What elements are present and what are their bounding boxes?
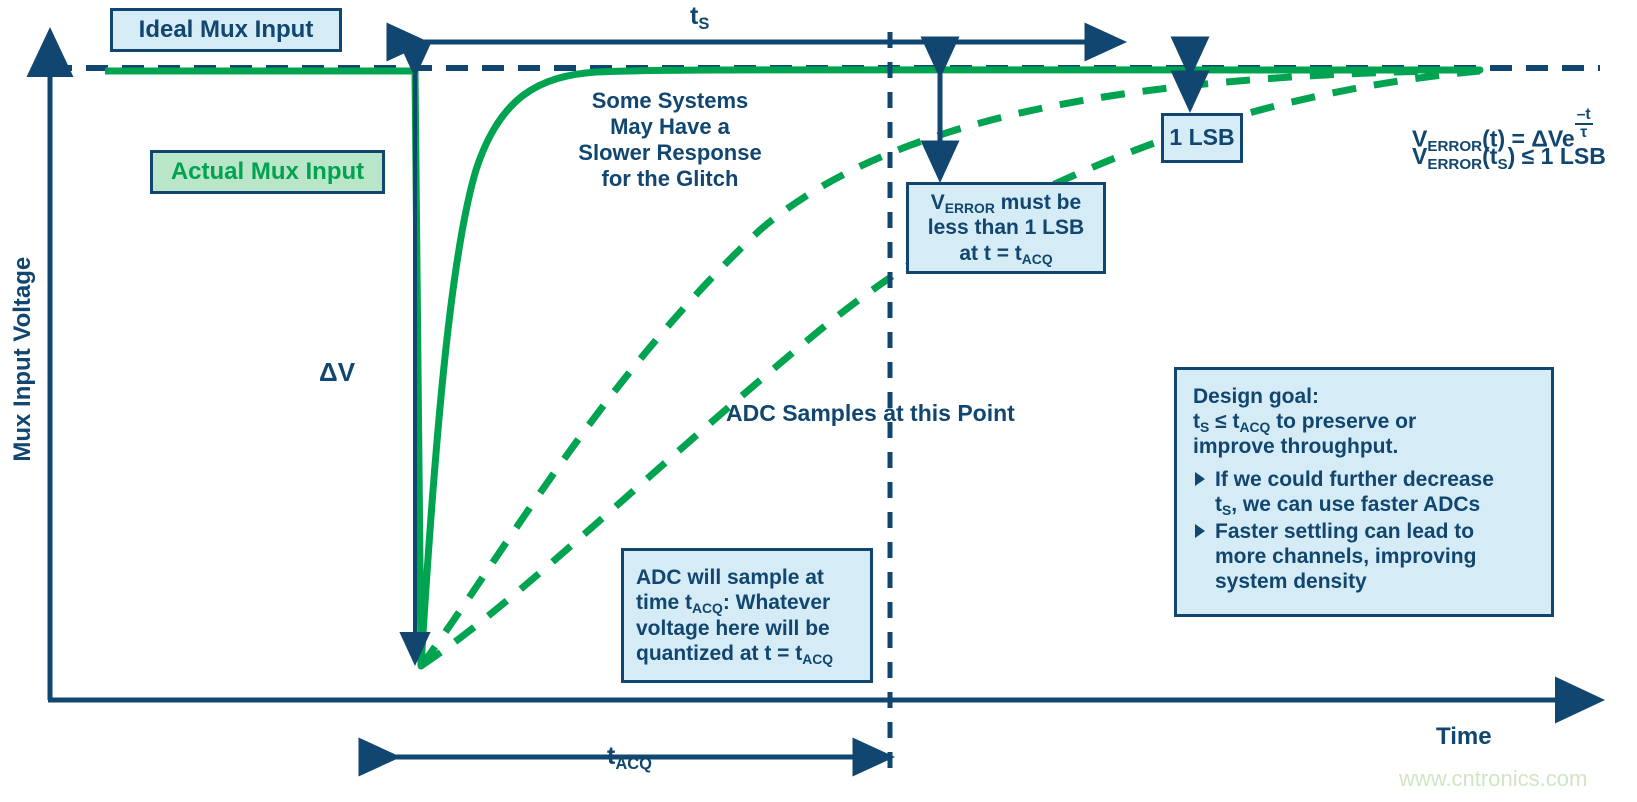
dg-t: t: [1193, 410, 1200, 433]
adc-samples-point-label: ADC Samples at this Point: [726, 400, 1015, 427]
bullet2-line1: Faster settling can lead to: [1215, 520, 1474, 543]
dg-le-t: ≤ t: [1209, 410, 1239, 433]
one-lsb-box: 1 LSB: [1161, 113, 1243, 163]
verror-v: V: [931, 191, 945, 214]
design-goal-line2: tS ≤ tACQ to preserve or: [1193, 409, 1535, 434]
glitch-note-line1: Some Systems: [592, 88, 749, 113]
bullet1-line2: , we can use faster ADCs: [1231, 493, 1480, 516]
verror-sub: ERROR: [945, 200, 995, 216]
bullet2-line2: more channels, improving: [1215, 545, 1476, 568]
triangle-bullet-icon: [1195, 472, 1205, 486]
verror-constraint-box: VERROR must be less than 1 LSB at t = tA…: [906, 182, 1106, 274]
adc-note-line2a: time t: [636, 591, 692, 614]
design-goal-bullet-1: If we could further decrease tS, we can …: [1193, 467, 1535, 517]
adc-sample-note-text: ADC will sample at time tACQ: Whatever v…: [636, 565, 833, 666]
adc-note-line4a: quantized at t = t: [636, 642, 802, 665]
verror-line3-sub: ACQ: [1022, 251, 1053, 267]
eq2-v: V: [1412, 143, 1427, 169]
glitch-note-line3: Slower Response: [578, 140, 761, 165]
verror-constraint-text: VERROR must be less than 1 LSB at t = tA…: [928, 190, 1084, 266]
verror-line3: at t = t: [959, 242, 1021, 265]
design-goal-bullet-2: Faster settling can lead to more channel…: [1193, 519, 1535, 595]
adc-note-line4-sub: ACQ: [802, 651, 833, 667]
tacq-label: tACQ: [607, 742, 652, 772]
dg-preserve: to preserve or: [1270, 410, 1416, 433]
adc-note-line2b: : Whatever: [723, 591, 830, 614]
watermark: www.cntronics.com: [1399, 766, 1587, 792]
bullet1-line1: If we could further decrease: [1215, 468, 1494, 491]
adc-sample-note-box: ADC will sample at time tACQ: Whatever v…: [621, 548, 873, 683]
design-goal-line3: improve throughput.: [1193, 434, 1535, 459]
x-axis-label: Time: [1436, 723, 1492, 751]
verror-equation-2: VERROR(tS) ≤ 1 LSB: [1412, 143, 1606, 170]
y-axis-label: Mux Input Voltage: [9, 244, 37, 474]
glitch-note-line4: for the Glitch: [602, 166, 739, 191]
design-goal-box: Design goal: tS ≤ tACQ to preserve or im…: [1174, 367, 1554, 617]
design-goal-title: Design goal:: [1193, 384, 1535, 409]
actual-mux-input-legend-box: Actual Mux Input: [150, 150, 385, 194]
dg-tacq-sub: ACQ: [1239, 419, 1270, 435]
ts-sub: S: [698, 15, 709, 33]
eq1-exp-den: τ: [1575, 123, 1593, 141]
slower-response-note: Some Systems May Have a Slower Response …: [565, 88, 775, 192]
glitch-note-line2: May Have a: [610, 114, 730, 139]
diagram-canvas: Ideal Mux Input Actual Mux Input 1 LSB V…: [0, 0, 1637, 802]
adc-note-line1: ADC will sample at: [636, 566, 824, 589]
verror-must-be: must be: [995, 191, 1081, 214]
eq2-sub2: S: [1497, 156, 1507, 173]
verror-line2: less than 1 LSB: [928, 216, 1084, 239]
bullet2-line3: system density: [1215, 570, 1367, 593]
ideal-mux-input-legend-box: Ideal Mux Input: [110, 8, 342, 52]
ideal-mux-input-label: Ideal Mux Input: [139, 16, 314, 45]
eq2-paren: (t: [1482, 143, 1497, 169]
adc-note-line3: voltage here will be: [636, 617, 830, 640]
bullet1-t: t: [1215, 493, 1222, 516]
bullet1-t-sub: S: [1222, 502, 1231, 518]
adc-note-line2-sub: ACQ: [692, 600, 723, 616]
eq2-tail: ) ≤ 1 LSB: [1508, 143, 1606, 169]
ts-label: tS: [690, 2, 709, 32]
triangle-bullet-icon: [1195, 524, 1205, 538]
eq1-exponent-fraction: –tτ: [1575, 107, 1593, 140]
eq2-sub1: ERROR: [1427, 156, 1482, 173]
one-lsb-label: 1 LSB: [1169, 124, 1234, 152]
tacq-sub: ACQ: [615, 755, 652, 773]
dg-t-sub: S: [1200, 419, 1209, 435]
actual-mux-input-label: Actual Mux Input: [171, 158, 364, 187]
delta-v-label: ΔV: [319, 357, 355, 388]
eq1-exp-num: –t: [1575, 107, 1593, 123]
design-goal-bullets: If we could further decrease tS, we can …: [1193, 467, 1535, 595]
